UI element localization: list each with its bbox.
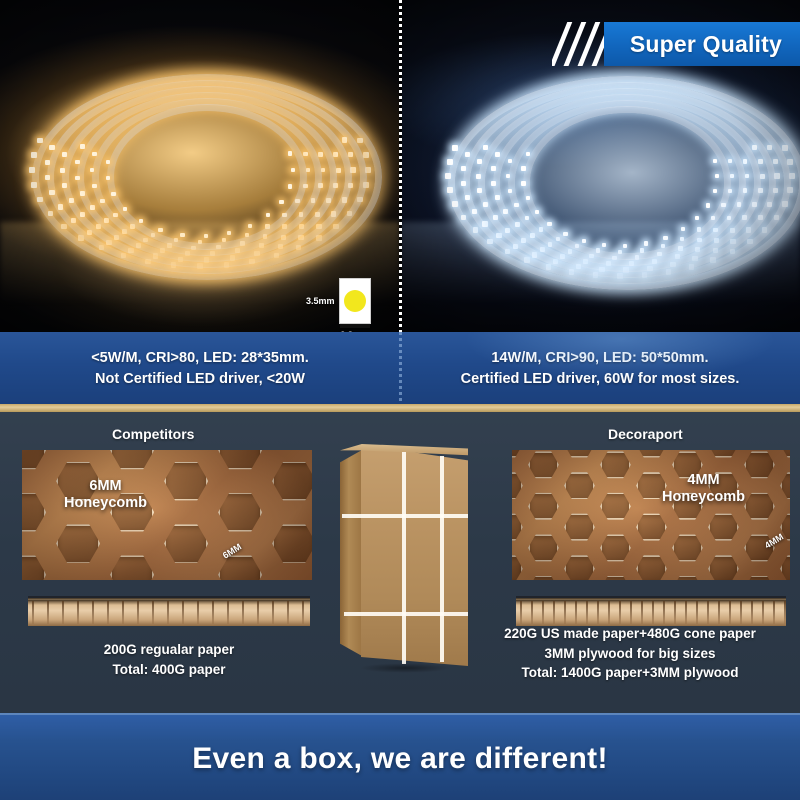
specification-band: <5W/M, CRI>80, LED: 28*35mm. Not Certifi…	[0, 332, 800, 404]
strip-cell-wall	[630, 601, 632, 624]
decoraport-edge-strip	[516, 596, 786, 626]
photo-comparison-row: 3.5mm 2.8mm 5mm	[0, 0, 800, 332]
competitor-led-chip-callout: 3.5mm 2.8mm	[302, 278, 371, 324]
strip-cell-wall	[197, 601, 199, 624]
competitor-spec-block: <5W/M, CRI>80, LED: 28*35mm. Not Certifi…	[0, 332, 400, 404]
strip-cell-wall	[107, 601, 109, 624]
strip-cell-wall	[287, 601, 289, 624]
strip-cell-wall	[663, 601, 665, 624]
cardboard-box-graphic	[340, 440, 468, 666]
strip-cell-wall	[77, 601, 79, 624]
competitors-heading: Competitors	[112, 426, 194, 442]
strip-cell-wall	[674, 601, 676, 624]
strip-cell-wall	[242, 601, 244, 624]
strip-cell-wall	[212, 601, 214, 624]
decoraport-spec-line-2: Certified LED driver, 60W for most sizes…	[461, 371, 740, 387]
strip-cell-wall	[182, 601, 184, 624]
competitor-spec-line-2: Not Certified LED driver, <20W	[95, 371, 305, 387]
strip-cell-wall	[553, 601, 555, 624]
honeycomb-size-left-line2: Honeycomb	[64, 495, 147, 511]
competitor-caption-line-1: 200G regualar paper	[22, 640, 316, 660]
strip-cell-wall	[597, 601, 599, 624]
box-side-panel	[340, 450, 362, 656]
decoraport-heading: Decoraport	[608, 426, 683, 442]
super-quality-label: Super Quality	[630, 31, 782, 58]
strip-cell-wall	[762, 601, 764, 624]
honeycomb-shading-right	[512, 450, 790, 580]
honeycomb-size-right-line1: 4MM	[687, 472, 719, 488]
decoraport-packaging-caption: 220G US made paper+480G cone paper 3MM p…	[470, 624, 790, 683]
box-front-panel	[361, 440, 468, 666]
honeycomb-size-left-line1: 6MM	[89, 478, 121, 494]
product-comparison-infographic: 3.5mm 2.8mm 5mm	[0, 0, 800, 800]
decoraport-spec-line-1: 14W/M, CRI>90, LED: 50*50mm.	[491, 350, 708, 366]
strip-cell-wall	[257, 601, 259, 624]
decoraport-caption-line-2: 3MM plywood for big sizes	[470, 644, 790, 664]
strip-cell-wall	[152, 601, 154, 624]
strip-cell-wall	[784, 601, 786, 624]
box-ground-shadow	[338, 662, 472, 674]
strip-cell-wall	[729, 601, 731, 624]
competitor-led-strip-photo: 3.5mm 2.8mm	[0, 0, 400, 332]
strip-cell-wall	[542, 601, 544, 624]
decoraport-honeycomb-panel: 4MM Honeycomb 4MM	[512, 450, 790, 580]
super-quality-band: Super Quality	[604, 22, 800, 66]
strip-cell-wall	[92, 601, 94, 624]
strip-cell-wall	[773, 601, 775, 624]
strip-cell-wall	[586, 601, 588, 624]
strip-cell-wall	[137, 601, 139, 624]
honeycomb-size-right-line2: Honeycomb	[662, 489, 745, 505]
box-strap-vertical-1	[402, 452, 406, 664]
box-strap-horizontal-1	[342, 514, 468, 518]
strip-cell-wall	[32, 601, 34, 624]
chip-body-left	[339, 278, 371, 324]
strip-cell-wall	[740, 601, 742, 624]
strip-cell-wall	[122, 601, 124, 624]
honeycomb-size-label-right: 4MM Honeycomb	[662, 472, 745, 507]
competitor-edge-strip	[28, 596, 310, 626]
strip-cell-wall	[707, 601, 709, 624]
gold-divider-bar	[0, 404, 800, 412]
competitor-caption-line-2: Total: 400G paper	[22, 660, 316, 680]
chip-height-label-left: 3.5mm	[306, 296, 335, 306]
chip-width-label-left: 2.8mm	[340, 330, 369, 332]
strip-cell-wall	[531, 601, 533, 624]
competitor-packaging-caption: 200G regualar paper Total: 400G paper	[22, 640, 316, 679]
strip-cell-wall	[718, 601, 720, 624]
strip-cell-wall	[564, 601, 566, 624]
decoraport-caption-line-3: Total: 1400G paper+3MM plywood	[470, 663, 790, 683]
chip-diagram-left: 2.8mm	[339, 278, 371, 324]
footer-tagline: Even a box, we are different!	[192, 742, 608, 776]
strip-cell-wall	[520, 601, 522, 624]
decoraport-caption-line-1: 220G US made paper+480G cone paper	[470, 624, 790, 644]
super-quality-banner: Super Quality	[604, 22, 800, 66]
strip-cell-wall	[47, 601, 49, 624]
chip-phosphor-dot-left	[344, 290, 366, 312]
strip-cell-wall	[575, 601, 577, 624]
box-strap-vertical-2	[440, 456, 444, 662]
strip-cell-wall	[641, 601, 643, 624]
honeycomb-shading-left	[22, 450, 312, 580]
photo-divider-dotted-line	[399, 0, 402, 332]
strip-cell-wall	[751, 601, 753, 624]
strip-cell-wall	[302, 601, 304, 624]
strip-cell-wall	[652, 601, 654, 624]
competitor-spec-line-1: <5W/M, CRI>80, LED: 28*35mm.	[91, 350, 309, 366]
strip-cell-wall	[272, 601, 274, 624]
strip-cell-wall	[608, 601, 610, 624]
strip-cell-wall	[696, 601, 698, 624]
packaging-comparison-section: Competitors Decoraport 6MM Honeycomb 6MM…	[0, 412, 800, 713]
box-strap-horizontal-2	[344, 612, 468, 616]
honeycomb-size-label-left: 6MM Honeycomb	[64, 478, 147, 513]
strip-cell-wall	[167, 601, 169, 624]
competitor-honeycomb-panel: 6MM Honeycomb 6MM	[22, 450, 312, 580]
decoraport-spec-block: 14W/M, CRI>90, LED: 50*50mm. Certified L…	[400, 332, 800, 404]
strip-cell-wall	[62, 601, 64, 624]
strip-cell-wall	[227, 601, 229, 624]
strip-cell-wall	[619, 601, 621, 624]
tagline-footer: Even a box, we are different!	[0, 713, 800, 800]
strip-cell-wall	[685, 601, 687, 624]
